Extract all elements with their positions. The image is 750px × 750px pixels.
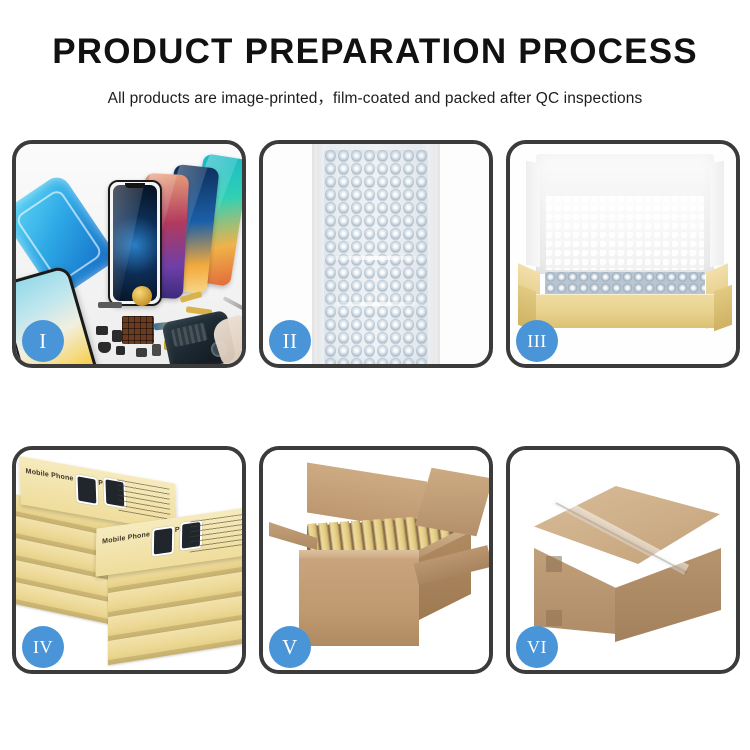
retail-box-spec-lines: [117, 479, 170, 520]
foam-padding-icon: [546, 196, 704, 270]
step-badge-i: I: [22, 320, 64, 362]
page-title: PRODUCT PREPARATION PROCESS: [0, 34, 750, 69]
step-badge-iv: IV: [22, 626, 64, 668]
component-icon: [96, 326, 108, 335]
component-icon: [112, 330, 122, 342]
step-badge-vi: VI: [516, 626, 558, 668]
step-badge-v: V: [269, 626, 311, 668]
component-icon: [98, 342, 111, 353]
step-panel-vi: VI: [506, 446, 740, 674]
step-panel-iv: Mobile Phone Spare Parts Mobile Phone Sp…: [12, 446, 246, 674]
bubble-wrap-shadow: [312, 144, 324, 364]
component-icon: [98, 302, 122, 308]
step-panel-iii: III: [506, 140, 740, 368]
vibrator-motor-icon: [132, 286, 152, 306]
bubble-wrap-seam: [322, 302, 430, 306]
bubble-wrap-seam: [322, 256, 430, 260]
flex-cable-icon: [180, 291, 203, 303]
inner-box-front-icon: [532, 294, 718, 328]
phone-fan-group: [90, 152, 242, 302]
step-badge-iii: III: [516, 320, 558, 362]
step-panel-v: V: [259, 446, 493, 674]
carton-front-panel: [299, 558, 419, 646]
spare-parts-group: [94, 292, 242, 364]
step-badge-ii: II: [269, 320, 311, 362]
process-steps-grid: I II III: [12, 140, 740, 674]
component-icon: [152, 344, 161, 356]
bubble-wrap-shadow: [428, 144, 440, 364]
screw-mat-icon: [122, 316, 154, 344]
carton-label-icon: [546, 610, 562, 626]
retail-box-spec-lines: [190, 514, 242, 553]
screen-thumbnail-icon: [152, 526, 174, 557]
component-icon: [136, 348, 147, 357]
component-icon: [116, 346, 125, 355]
page-header: PRODUCT PREPARATION PROCESS All products…: [0, 0, 750, 108]
carton-label-icon: [546, 556, 562, 572]
step-panel-i: I: [12, 140, 246, 368]
page-subtitle: All products are image-printed，film-coat…: [0, 86, 750, 108]
tweezers-icon: [223, 296, 242, 312]
screen-thumbnail-icon: [75, 474, 98, 506]
step-panel-ii: II: [259, 140, 493, 368]
